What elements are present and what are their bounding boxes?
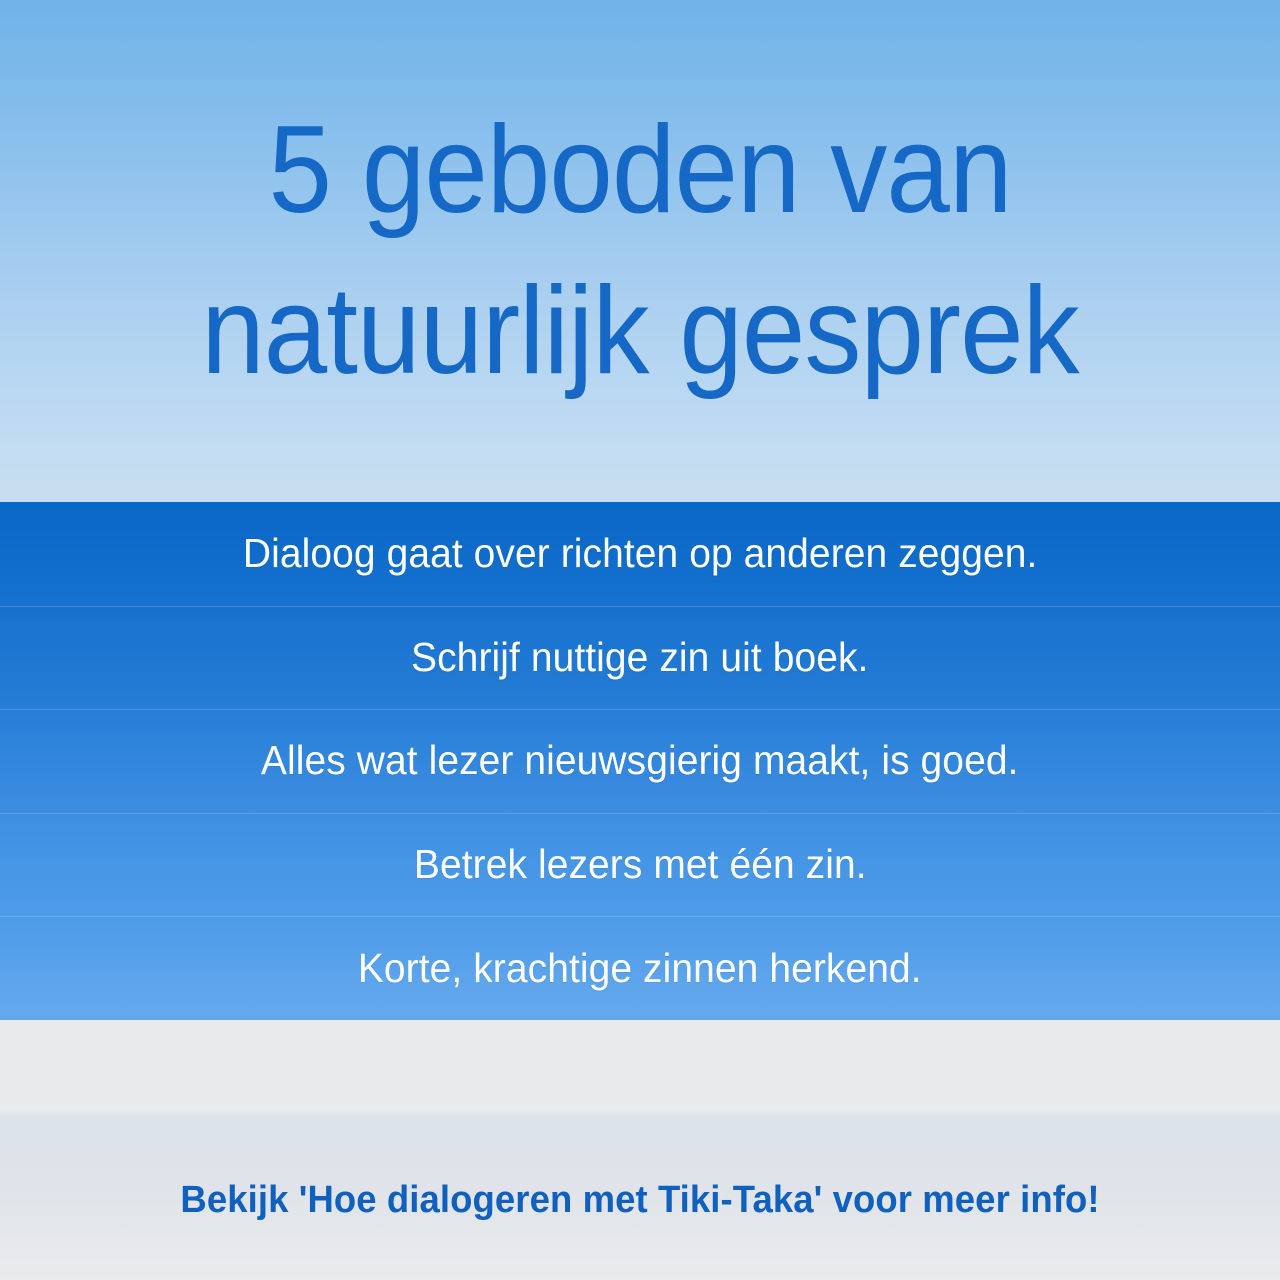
list-item-label: Betrek lezers met één zin.	[414, 842, 867, 887]
poster-canvas: 5 geboden van natuurlijk gesprek Dialoog…	[0, 0, 1280, 1280]
list-item: Schrijf nuttige zin uit boek.	[0, 606, 1280, 710]
list-item: Betrek lezers met één zin.	[0, 813, 1280, 917]
commandments-list: Dialoog gaat over richten op anderen zeg…	[0, 502, 1280, 1020]
footer-section: Bekijk 'Hoe dialogeren met Tiki-Taka' vo…	[0, 1020, 1280, 1280]
list-item: Alles wat lezer nieuwsgierig maakt, is g…	[0, 709, 1280, 813]
hero-section: 5 geboden van natuurlijk gesprek	[0, 0, 1280, 502]
list-item-label: Korte, krachtige zinnen herkend.	[358, 946, 922, 991]
list-item: Korte, krachtige zinnen herkend.	[0, 916, 1280, 1020]
page-title: 5 geboden van natuurlijk gesprek	[79, 90, 1201, 412]
list-item-label: Alles wat lezer nieuwsgierig maakt, is g…	[261, 738, 1019, 783]
footer-cta-text[interactable]: Bekijk 'Hoe dialogeren met Tiki-Taka' vo…	[26, 1178, 1255, 1224]
list-item-label: Schrijf nuttige zin uit boek.	[411, 635, 868, 680]
list-item-label: Dialoog gaat over richten op anderen zeg…	[243, 531, 1038, 576]
list-item: Dialoog gaat over richten op anderen zeg…	[0, 502, 1280, 606]
